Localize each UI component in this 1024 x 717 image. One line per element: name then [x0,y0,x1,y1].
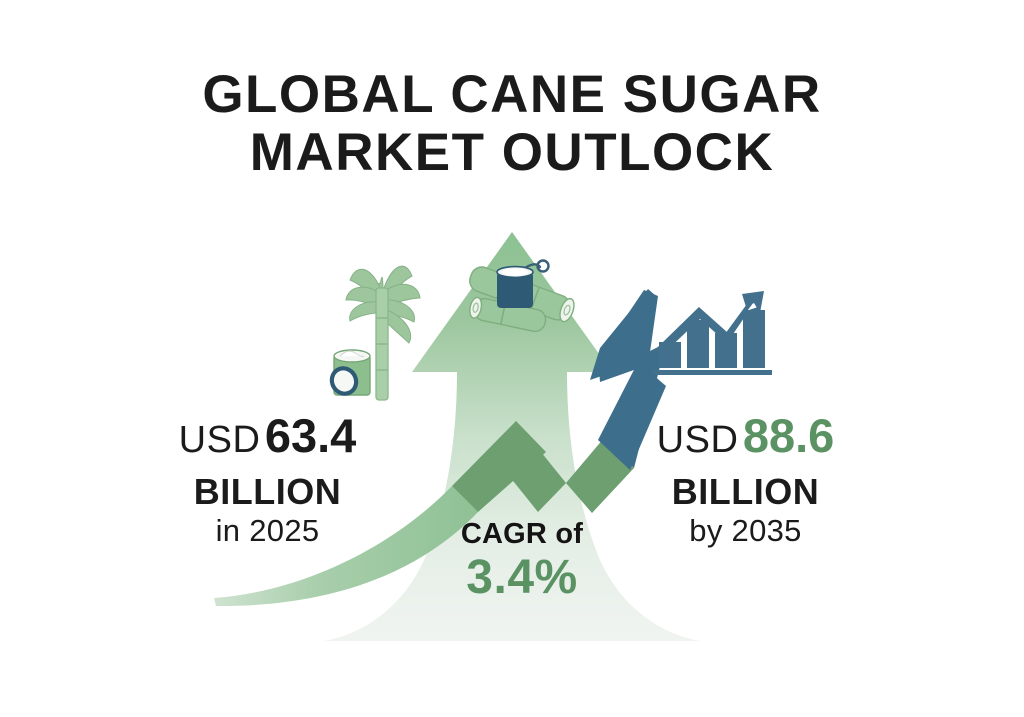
right-value-row: USD 88.6 [628,412,863,472]
right-value-block: USD 88.6 BILLION by 2035 [628,412,863,550]
left-value-number: 63.4 [265,409,356,462]
title-line-1: GLOBAL CANE SUGAR [0,66,1024,124]
left-value-year: in 2025 [150,512,385,550]
growth-bar-chart-icon [652,291,772,375]
infographic-canvas: GLOBAL CANE SUGAR MARKET OUTLOCK USD 63.… [0,0,1024,717]
left-value-block: USD 63.4 BILLION in 2025 [150,412,385,550]
cagr-value: 3.4% [422,551,622,605]
page-title: GLOBAL CANE SUGAR MARKET OUTLOCK [0,66,1024,182]
title-line-2: MARKET OUTLOCK [0,124,1024,182]
left-value-unit: BILLION [150,472,385,512]
cagr-label: CAGR of [422,518,622,551]
right-currency-label: USD [657,419,739,461]
right-value-number: 88.6 [743,409,834,462]
right-value-unit: BILLION [628,472,863,512]
left-value-row: USD 63.4 [150,412,385,472]
right-value-year: by 2035 [628,512,863,550]
sugar-jar-icon [325,350,370,401]
cagr-block: CAGR of 3.4% [422,518,622,605]
left-currency-label: USD [179,419,261,461]
